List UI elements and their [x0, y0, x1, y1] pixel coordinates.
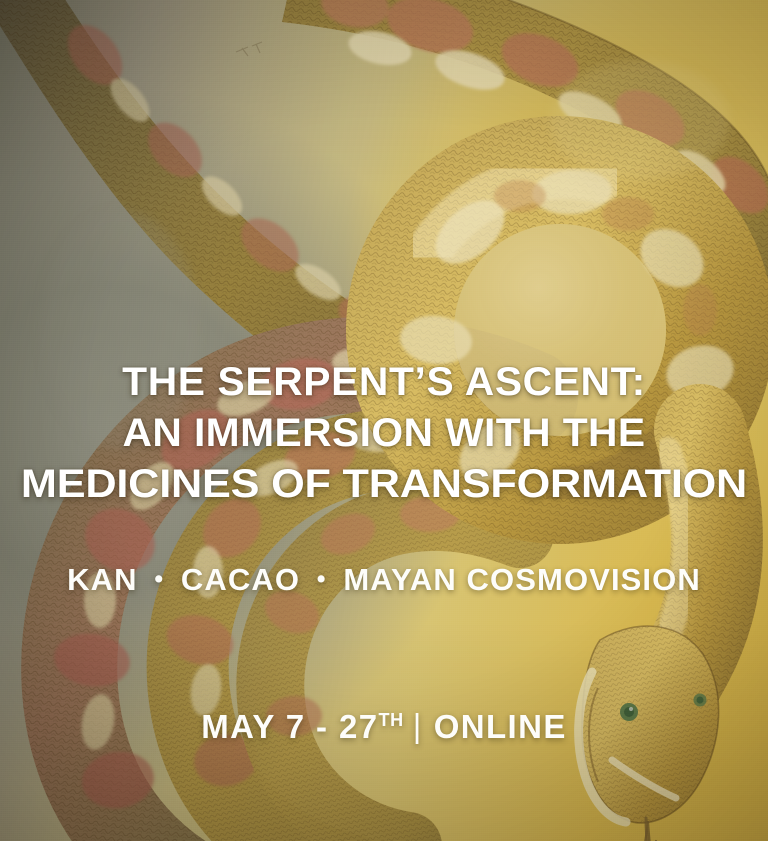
event-poster: THE SERPENT’S ASCENT: AN IMMERSION WITH …	[0, 0, 768, 841]
background-vignette	[0, 0, 768, 841]
